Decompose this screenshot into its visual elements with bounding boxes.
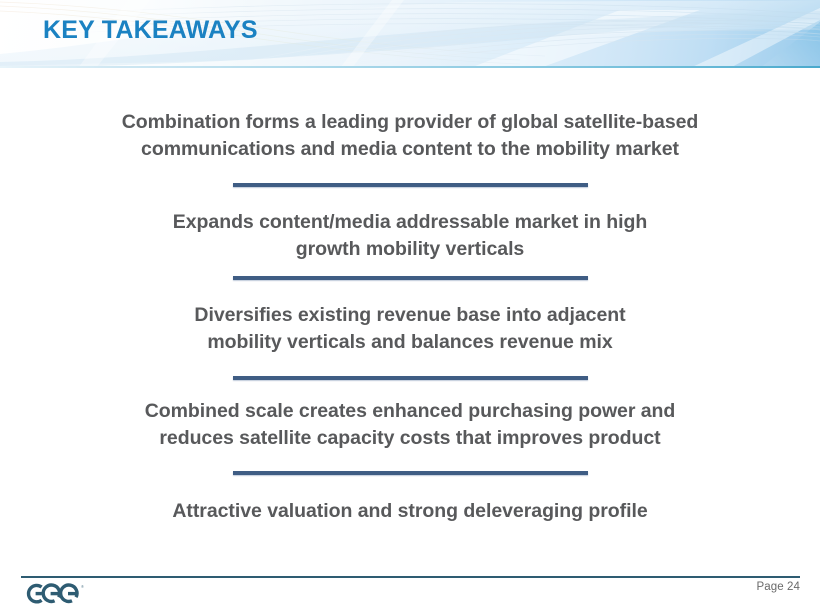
takeaway-divider [233,376,588,380]
takeaway-text: Combined scale creates enhanced purchasi… [0,398,820,452]
takeaway-divider [233,276,588,280]
takeaways-list: Combination forms a leading provider of … [0,68,820,568]
takeaway-divider [233,471,588,475]
takeaway-divider-wrap [0,376,820,380]
page-title: KEY TAKEAWAYS [43,16,258,45]
page-number-label: Page 24 [756,581,800,593]
takeaway-text: Diversifies existing revenue base into a… [0,302,820,356]
slide-header: KEY TAKEAWAYS [0,0,820,68]
takeaway-divider [233,183,588,187]
takeaway-item: Expands content/media addressable market… [0,209,820,263]
takeaway-item: Attractive valuation and strong delevera… [0,498,820,525]
takeaway-text: Expands content/media addressable market… [0,209,820,263]
footer-rule [21,576,800,578]
svg-text:®: ® [81,584,84,589]
takeaway-item: Combined scale creates enhanced purchasi… [0,398,820,452]
gee-logo-icon: ® [25,580,87,607]
takeaway-text: Attractive valuation and strong delevera… [0,498,820,525]
takeaway-item: Diversifies existing revenue base into a… [0,302,820,356]
slide: KEY TAKEAWAYS Combination forms a leadin… [0,0,820,615]
takeaway-divider-wrap [0,183,820,187]
takeaway-text: Combination forms a leading provider of … [0,109,820,163]
takeaway-divider-wrap [0,276,820,280]
takeaway-item: Combination forms a leading provider of … [0,109,820,163]
takeaway-divider-wrap [0,471,820,475]
